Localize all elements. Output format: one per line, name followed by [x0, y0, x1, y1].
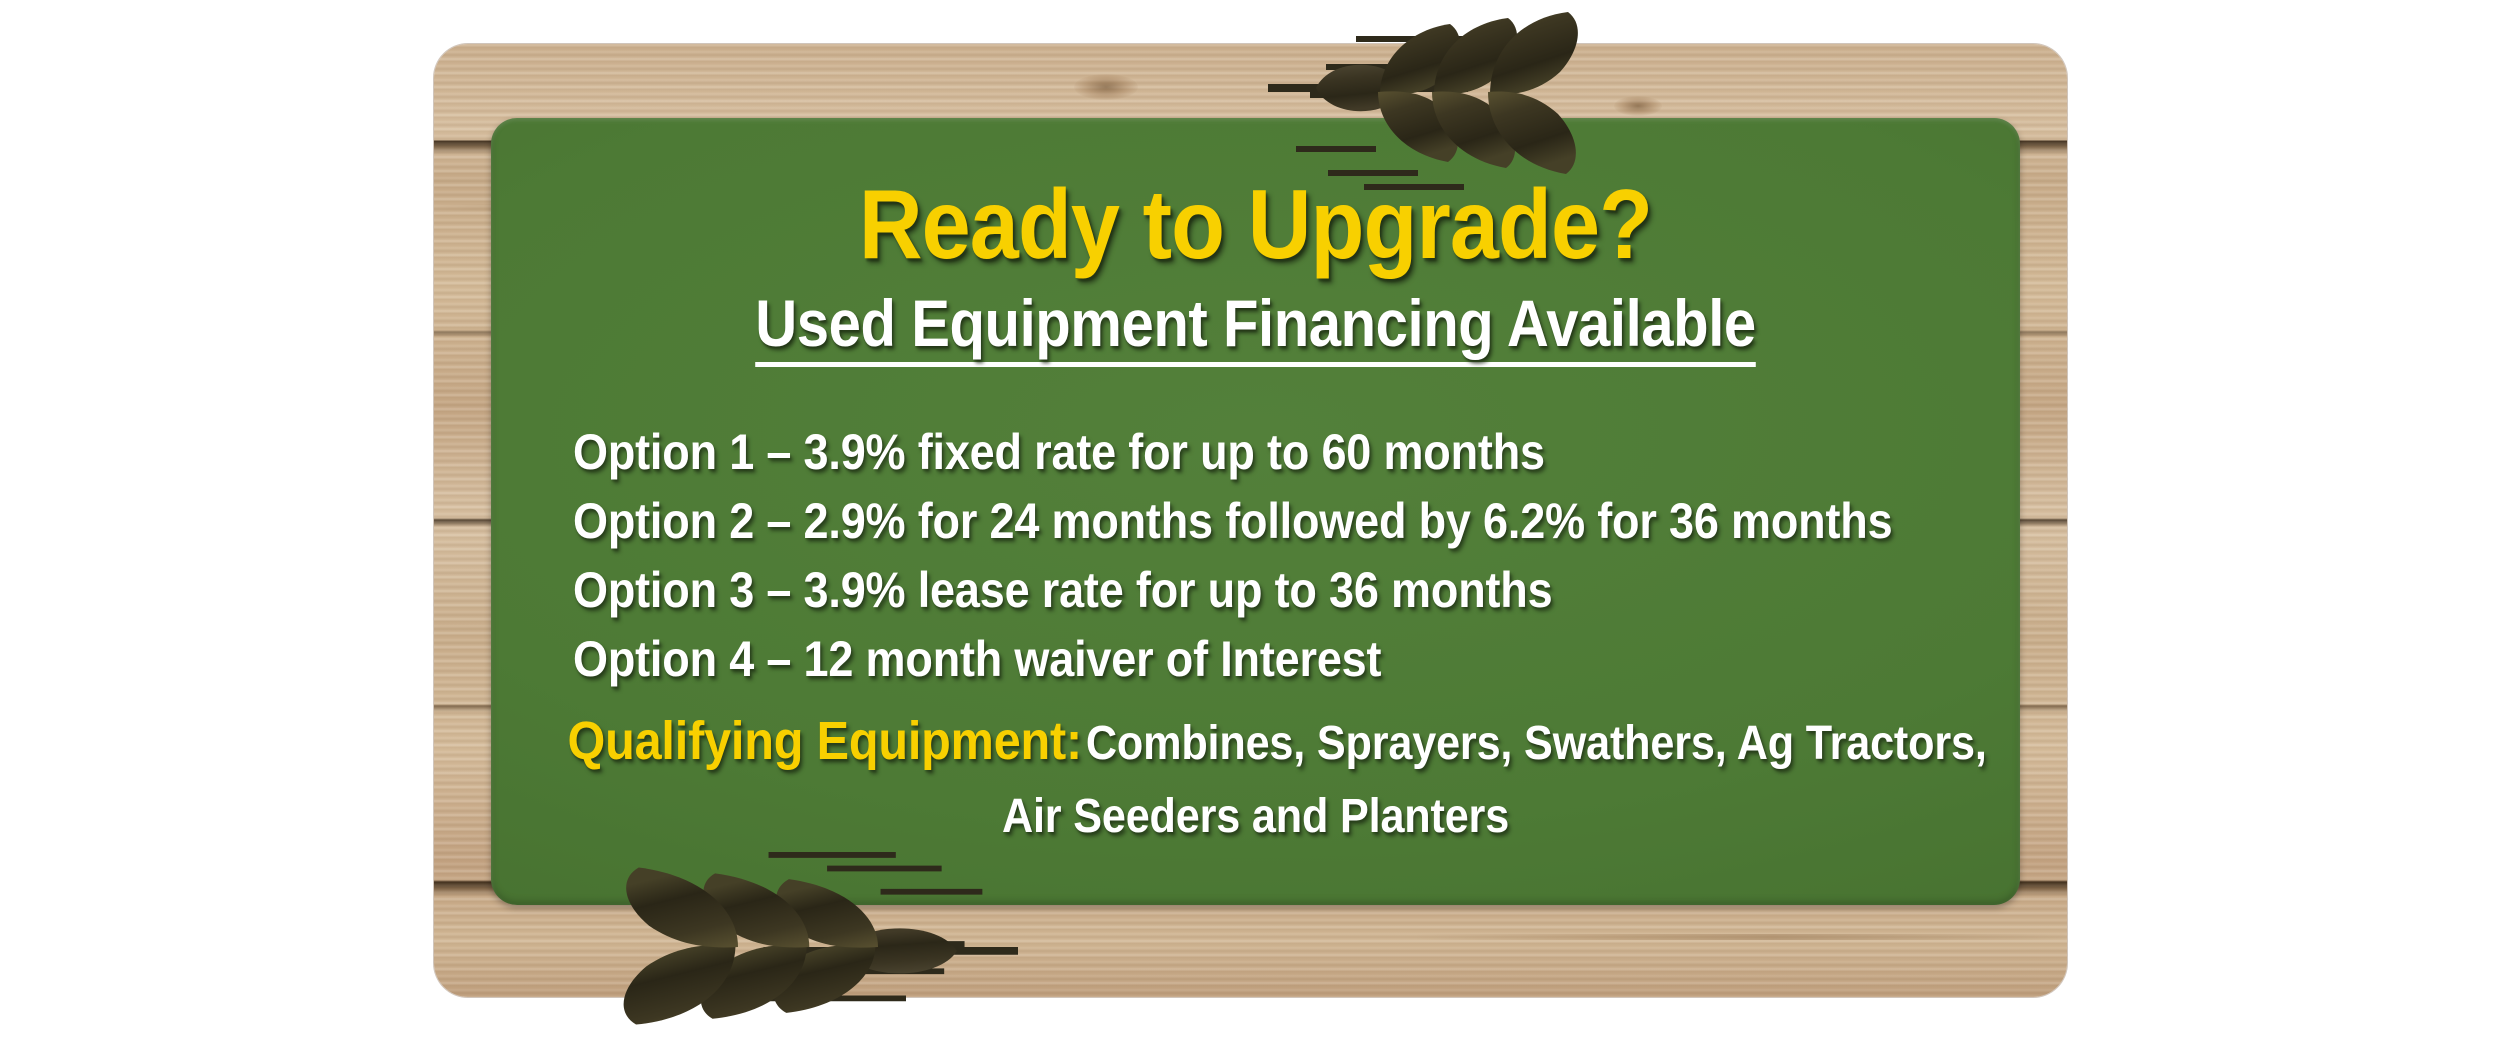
wood-knot — [1614, 96, 1662, 116]
financing-options-list: Option 1 – 3.9% fixed rate for up to 60 … — [573, 418, 1986, 694]
qualifying-equipment-block: Qualifying Equipment: Combines, Sprayers… — [491, 710, 2020, 848]
option-item-1: Option 1 – 3.9% fixed rate for up to 60 … — [573, 418, 1845, 487]
qualifying-equipment-line-1: Qualifying Equipment: Combines, Sprayers… — [567, 710, 1943, 786]
qualifying-equipment-items-line-1: Combines, Sprayers, Swathers, Ag Tractor… — [1086, 717, 1987, 770]
option-item-3: Option 3 – 3.9% lease rate for up to 36 … — [573, 556, 1845, 625]
qualifying-equipment-items-line-2: Air Seeders and Planters — [567, 786, 1943, 848]
subheadline-wrapper: Used Equipment Financing Available — [583, 290, 1929, 367]
qualifying-equipment-label: Qualifying Equipment: — [567, 711, 1082, 771]
option-item-2: Option 2 – 2.9% for 24 months followed b… — [573, 487, 1845, 556]
wood-grain-streak — [1414, 934, 2067, 940]
headline: Ready to Upgrade? — [567, 175, 1943, 273]
wood-knot — [1074, 74, 1138, 100]
financing-promo-banner: Ready to Upgrade? Used Equipment Financi… — [0, 0, 2501, 1039]
option-item-4: Option 4 – 12 month waiver of Interest — [573, 625, 1845, 694]
subheadline: Used Equipment Financing Available — [755, 290, 1756, 367]
banner-content: Ready to Upgrade? Used Equipment Financi… — [491, 118, 2020, 905]
